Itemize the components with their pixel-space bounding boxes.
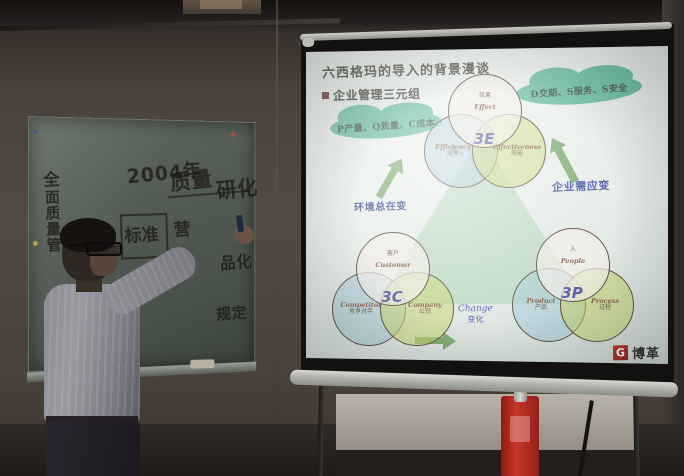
circle-label-cn: 人 (570, 247, 576, 254)
ceiling-fixture (200, 0, 242, 9)
circle-label-en: Effect (474, 104, 495, 111)
circle-label-en: Customer (375, 262, 410, 269)
slide-bullet: 企业管理三元组 (322, 85, 421, 104)
circle-label-cn: 公司 (419, 309, 431, 316)
venn-center-label-3c: 3C (370, 288, 414, 306)
whiteboard-note: 品化 (219, 248, 253, 274)
classroom-scene: 全 面质量管 2004年 质量 研化 标准 营 品化 规定 (0, 0, 684, 476)
arrow-label-right: 企业需应变 (552, 177, 611, 195)
presenter-legs (46, 422, 140, 476)
change-label-en: Change (458, 304, 493, 315)
venn-center-label-3p: 3P (550, 284, 594, 302)
whiteboard-magnet-red (231, 132, 236, 137)
circle-label-cn: 效率 (447, 151, 459, 158)
company-logo: G 博革 (613, 343, 660, 363)
whiteboard-note: 规定 (216, 299, 248, 324)
wall-corner (276, 0, 278, 440)
venn-diagram-3c: Competitor 竞争对手 Company 公司 Customer 客户 3… (332, 232, 452, 350)
whiteboard-note: 全 (42, 165, 61, 191)
arrow-label-left: 环境总在变 (354, 197, 407, 214)
venn-center-label-3e: 3E (462, 130, 506, 148)
whiteboard-note: 质量 (168, 162, 214, 198)
cloud-right-label: D交期、S服务、S安全 (530, 80, 628, 100)
circle-label-cn: 效能 (511, 151, 523, 158)
venn-diagram-3p: Product 产品 Process 过程 People 人 3P (512, 228, 632, 346)
whiteboard-note: 研化 (215, 170, 260, 205)
back-wall-lower (336, 450, 636, 476)
venn-diagram-3e: Efficiency 效率 Effectiveness 效能 Effect 效果… (424, 74, 544, 192)
change-label-cn: 变化 (458, 314, 493, 326)
circle-label-cn: 客户 (387, 251, 399, 258)
slide: 六西格玛的导入的背景漫谈 企业管理三元组 P产量、Q质量、C成本 D交期、S服务… (306, 46, 668, 368)
slide-bullet-label: 企业管理三元组 (333, 85, 421, 104)
logo-text: 博革 (632, 343, 660, 362)
logo-mark-icon: G (613, 345, 628, 360)
circle-label-en: People (561, 258, 585, 265)
cloud-left-label: P产量、Q质量、C成本 (337, 115, 436, 135)
presenter (38, 214, 218, 476)
fire-extinguisher-label (510, 416, 530, 442)
circle-label-cn: 产品 (535, 305, 547, 312)
projection-screen-assembly: 六西格玛的导入的背景漫谈 企业管理三元组 P产量、Q质量、C成本 D交期、S服务… (296, 24, 674, 428)
circle-label-cn: 竞争对手 (349, 309, 373, 316)
whiteboard-magnet-blue (33, 129, 38, 134)
arrow-label-change: Change 变化 (458, 304, 493, 326)
projection-screen-canvas: 六西格玛的导入的背景漫谈 企业管理三元组 P产量、Q质量、C成本 D交期、S服务… (306, 46, 668, 368)
bullet-square-icon (322, 92, 329, 99)
screen-rail-knob (302, 38, 314, 47)
circle-label-cn: 效果 (479, 93, 491, 100)
glasses-icon (86, 242, 122, 256)
circle-label-cn: 过程 (599, 305, 611, 312)
